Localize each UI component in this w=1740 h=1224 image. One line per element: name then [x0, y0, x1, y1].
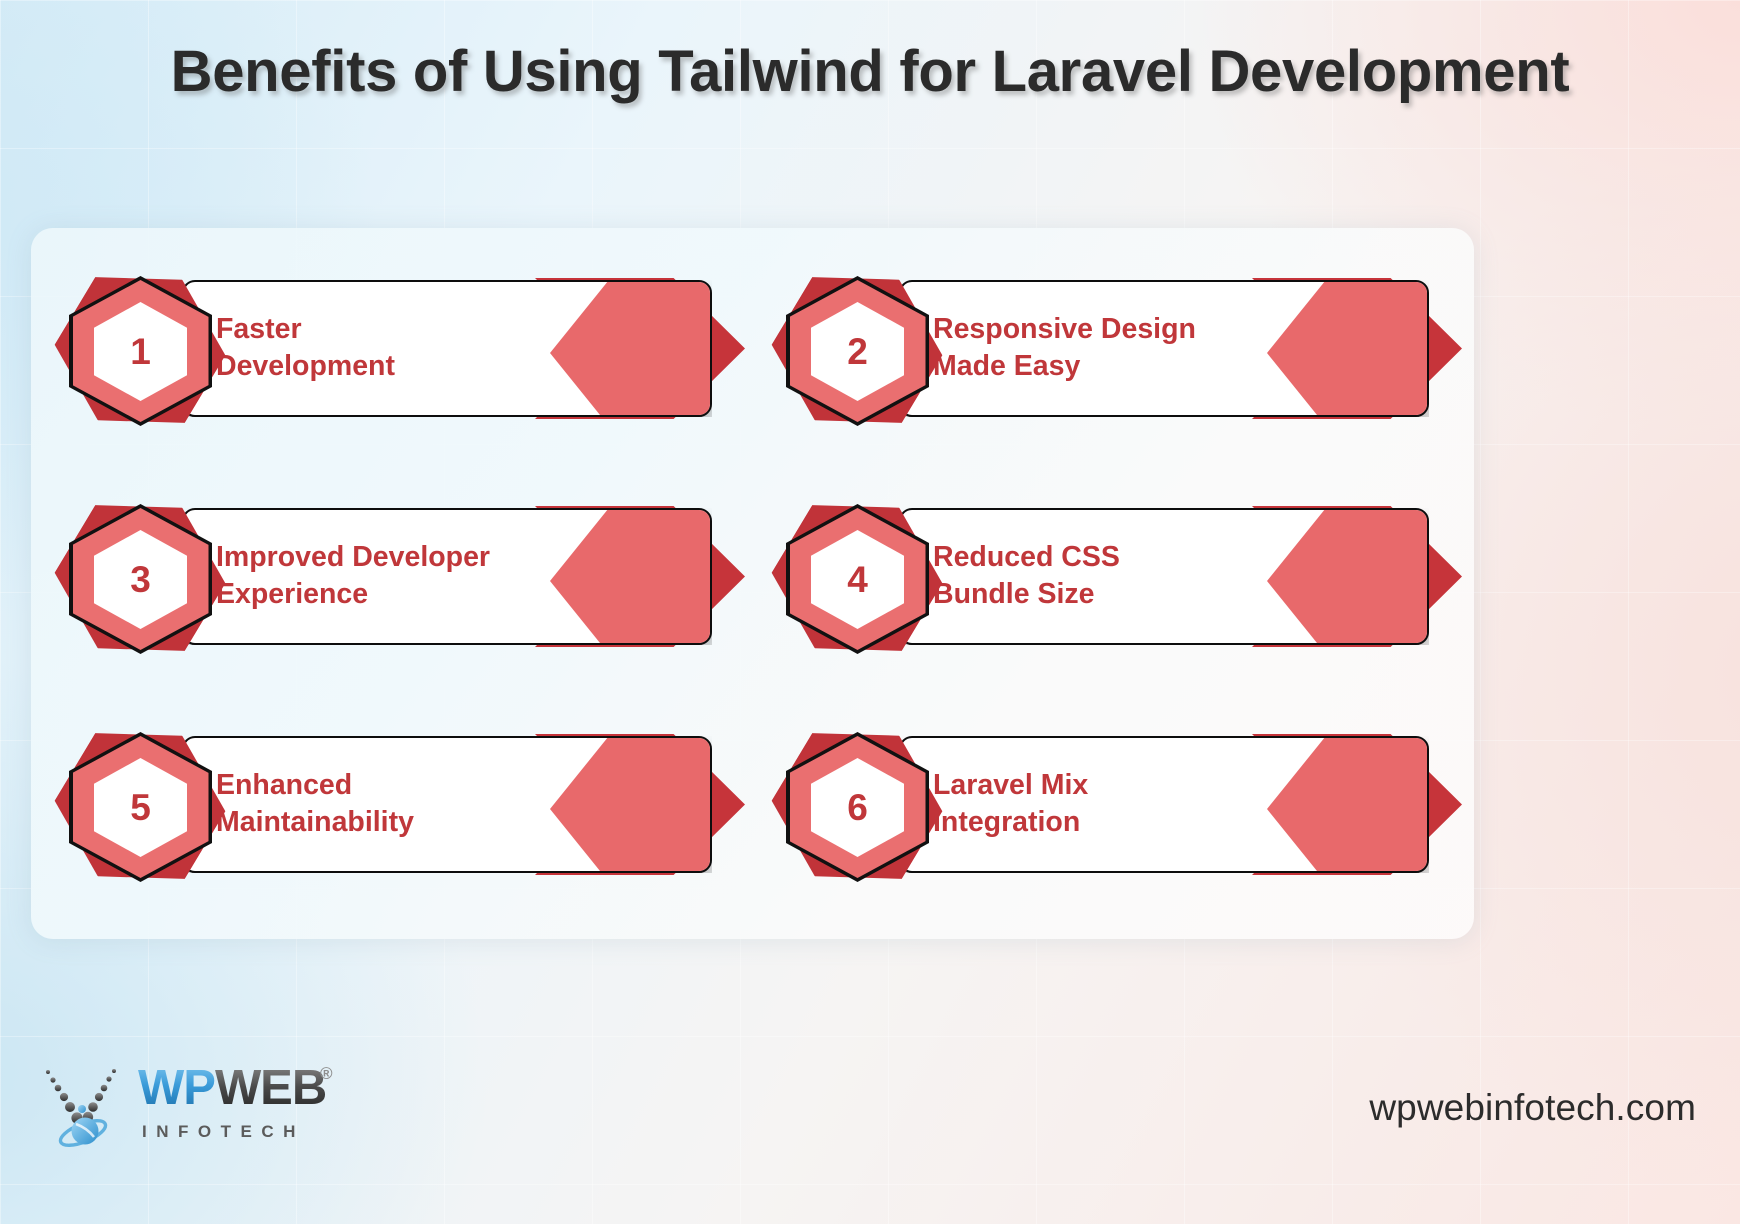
benefit-label: Laravel Mix Integration [933, 767, 1293, 843]
benefit-label: Reduced CSS Bundle Size [933, 539, 1293, 615]
benefit-ribbon: Improved Developer Experience [182, 508, 712, 645]
badge-number: 5 [94, 758, 187, 857]
badge-number: 6 [811, 758, 904, 857]
number-badge: 6 [769, 718, 945, 894]
benefit-ribbon: Enhanced Maintainability [182, 736, 712, 873]
benefit-ribbon: Faster Development [182, 280, 712, 417]
benefits-grid: Faster Development 1 Responsive Design M… [52, 250, 1472, 930]
number-badge: 5 [52, 718, 228, 894]
benefit-ribbon: Reduced CSS Bundle Size [899, 508, 1429, 645]
benefit-item-1[interactable]: Faster Development 1 [52, 250, 755, 478]
infographic-canvas: Benefits of Using Tailwind for Laravel D… [0, 0, 1740, 1224]
number-badge: 4 [769, 490, 945, 666]
badge-number: 3 [94, 530, 187, 629]
page-title: Benefits of Using Tailwind for Laravel D… [0, 40, 1740, 105]
benefit-label: Enhanced Maintainability [216, 767, 576, 843]
number-badge: 3 [52, 490, 228, 666]
benefit-item-3[interactable]: Improved Developer Experience 3 [52, 478, 755, 706]
benefit-ribbon: Laravel Mix Integration [899, 736, 1429, 873]
logo-word-secondary: WEB [215, 1061, 326, 1115]
benefit-item-6[interactable]: Laravel Mix Integration 6 [769, 706, 1472, 934]
benefit-item-2[interactable]: Responsive Design Made Easy 2 [769, 250, 1472, 478]
logo-planet-dots-icon [42, 1062, 128, 1154]
registered-trademark-icon: ® [320, 1064, 333, 1084]
badge-number: 4 [811, 530, 904, 629]
company-logo[interactable]: WPWEB ® INFOTECH [42, 1058, 352, 1158]
benefit-label: Faster Development [216, 311, 576, 387]
badge-number: 2 [811, 302, 904, 401]
number-badge: 2 [769, 262, 945, 438]
benefit-ribbon: Responsive Design Made Easy [899, 280, 1429, 417]
benefit-label: Improved Developer Experience [216, 539, 576, 615]
badge-number: 1 [94, 302, 187, 401]
benefit-item-4[interactable]: Reduced CSS Bundle Size 4 [769, 478, 1472, 706]
logo-wordmark: WPWEB [138, 1064, 326, 1113]
number-badge: 1 [52, 262, 228, 438]
logo-tagline: INFOTECH [142, 1122, 305, 1142]
benefit-label: Responsive Design Made Easy [933, 311, 1293, 387]
benefit-item-5[interactable]: Enhanced Maintainability 5 [52, 706, 755, 934]
logo-word-primary: WP [138, 1061, 215, 1115]
website-url[interactable]: wpwebinfotech.com [1369, 1087, 1696, 1129]
